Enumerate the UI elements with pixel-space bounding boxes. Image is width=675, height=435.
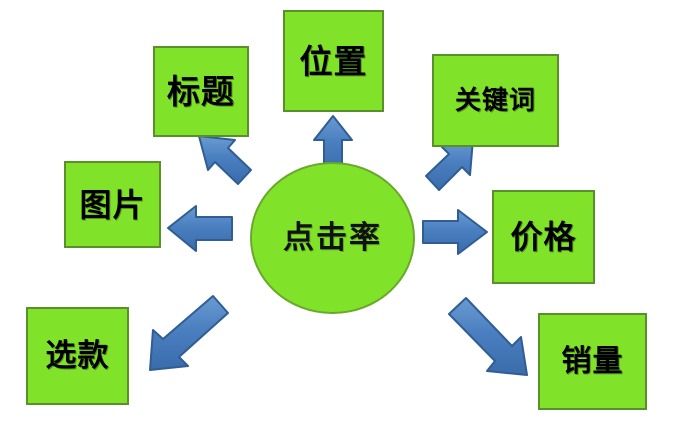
arrow-up-left-icon (199, 136, 251, 184)
node-box-position[interactable]: 位置 (283, 10, 384, 112)
arrow-down-left-icon (150, 296, 228, 370)
node-label-price: 价格 (510, 221, 576, 253)
arrow-right-icon (423, 210, 487, 254)
node-label-image: 图片 (79, 189, 145, 221)
node-label-style-selection: 选款 (46, 341, 110, 372)
node-label-title: 标题 (167, 75, 235, 108)
node-box-sales-volume[interactable]: 销量 (538, 313, 647, 410)
node-box-keyword[interactable]: 关键词 (432, 54, 559, 147)
arrow-left-icon (168, 206, 232, 251)
click-through-rate-diagram: 点击率 位置 标题 关键词 图片 价格 选款 销量 (0, 0, 675, 435)
node-label-sales-volume: 销量 (562, 347, 624, 377)
center-node-label: 点击率 (283, 223, 382, 254)
node-label-keyword: 关键词 (455, 88, 536, 114)
node-box-style-selection[interactable]: 选款 (26, 307, 129, 405)
arrow-down-right-icon (449, 298, 527, 375)
center-node-click-through-rate[interactable]: 点击率 (250, 162, 415, 314)
node-box-title[interactable]: 标题 (153, 46, 249, 137)
node-box-price[interactable]: 价格 (492, 190, 595, 284)
node-box-image[interactable]: 图片 (64, 161, 161, 248)
node-label-position: 位置 (300, 45, 368, 78)
